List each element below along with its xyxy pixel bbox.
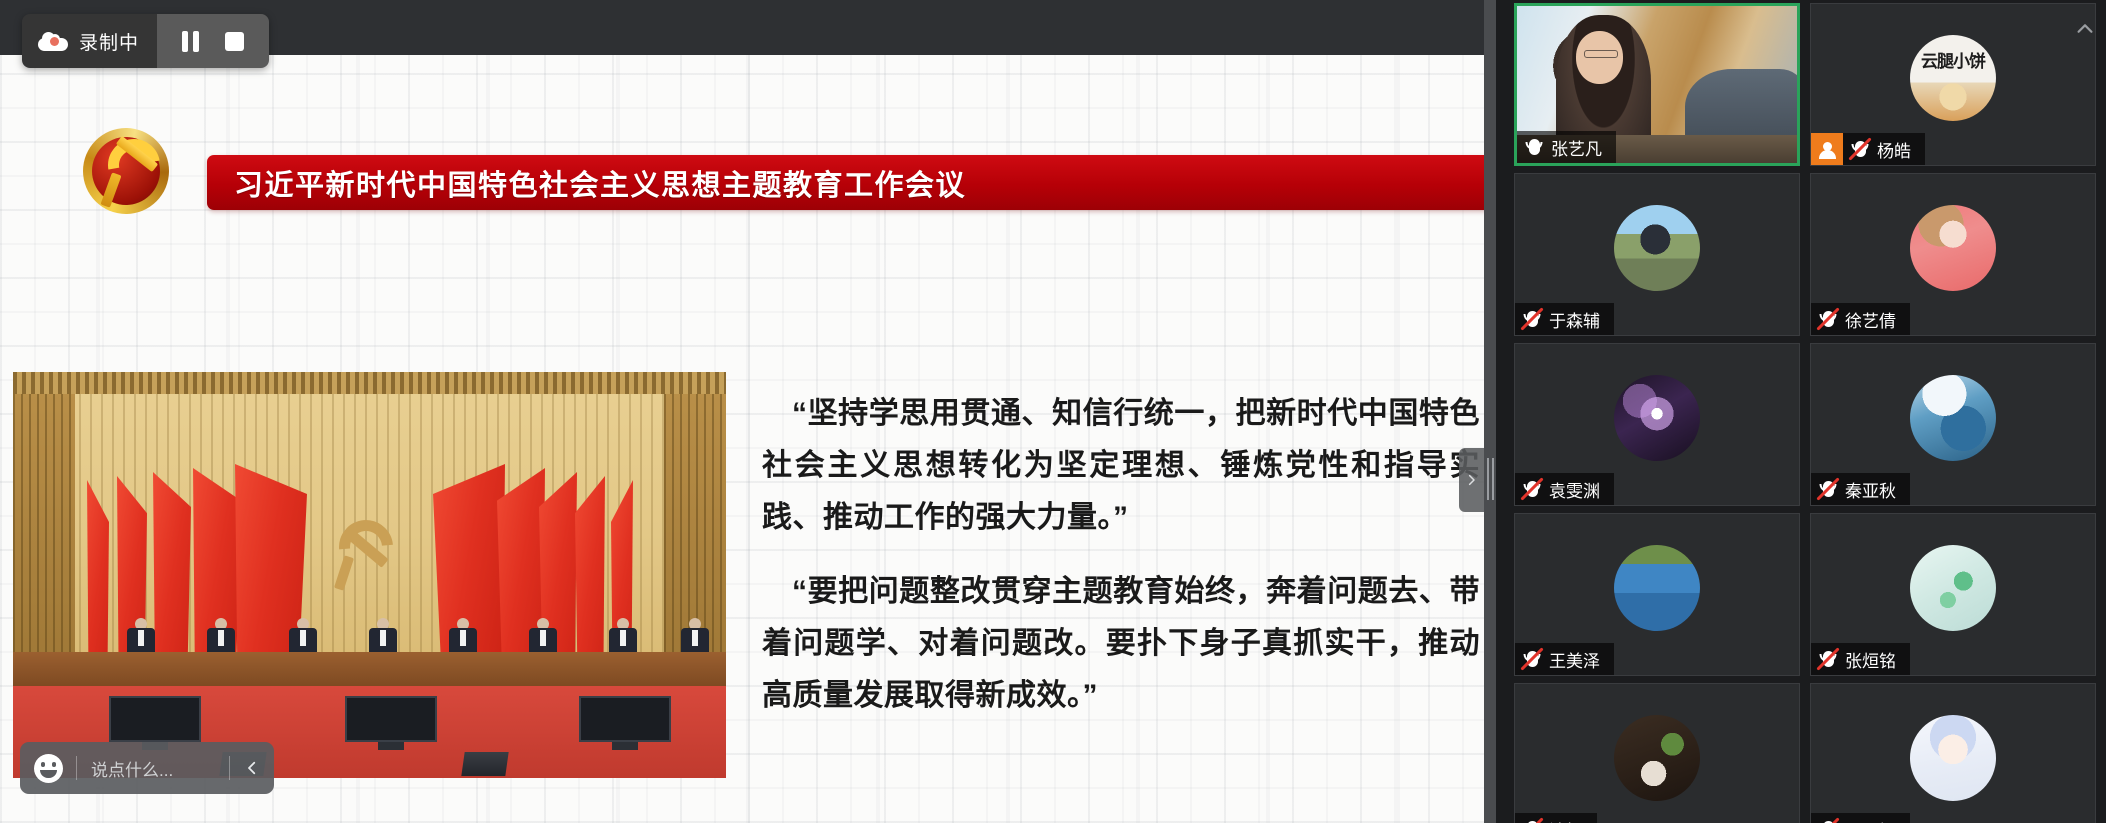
- slide-quote-2: “要把问题整改贯穿主题教育始终，奔着问题去、带着问题学、对着问题改。要扑下身子真…: [762, 566, 1480, 722]
- avatar: [1910, 545, 1996, 631]
- avatar: [1910, 35, 1996, 121]
- microphone-muted-icon: [1515, 651, 1549, 667]
- participant-tile[interactable]: 徐艺倩: [1810, 173, 2096, 336]
- slide-quote-block: “坚持学思用贯通、知信行统一，把新时代中国特色社会主义思想转化为坚定理想、锤炼党…: [762, 388, 1480, 722]
- panel-resize-handle[interactable]: [1484, 0, 1496, 823]
- participant-name: 秦亚秋: [1845, 477, 1896, 502]
- participant-nameplate: 于森辅: [1515, 303, 1614, 335]
- participant-nameplate: 袁雯渊: [1515, 473, 1614, 505]
- chat-input[interactable]: 说点什么...: [77, 756, 229, 781]
- microphone-muted-icon: [1811, 481, 1845, 497]
- chat-collapse-button[interactable]: [230, 759, 274, 777]
- participant-tile[interactable]: 张艺凡: [1514, 3, 1800, 166]
- recording-status: 录制中: [22, 14, 157, 68]
- presentation-slide: 习近平新时代中国特色社会主义思想主题教育工作会议: [0, 55, 1496, 823]
- participant-name: 于森辅: [1549, 307, 1600, 332]
- hall-party-emblem-icon: [333, 512, 407, 598]
- host-badge-icon: [1811, 133, 1843, 165]
- recording-label: 录制中: [79, 28, 139, 55]
- participant-name: 徐艺倩: [1845, 307, 1896, 332]
- participant-tile[interactable]: 袁雯渊: [1514, 343, 1800, 506]
- microphone-muted-icon: [1811, 651, 1845, 667]
- avatar: [1614, 375, 1700, 461]
- microphone-muted-icon: [1515, 481, 1549, 497]
- chevron-up-icon: [2074, 18, 2096, 40]
- avatar: [1910, 375, 1996, 461]
- participant-tile[interactable]: 法扬: [1514, 683, 1800, 823]
- conference-hall-photo: [13, 372, 726, 778]
- page-title: 习近平新时代中国特色社会主义思想主题教育工作会议: [207, 162, 966, 204]
- meeting-screen: 习近平新时代中国特色社会主义思想主题教育工作会议: [0, 0, 2106, 823]
- pause-icon[interactable]: [182, 31, 199, 52]
- microphone-muted-icon: [1515, 311, 1549, 327]
- emoji-smiley-icon[interactable]: [20, 754, 76, 783]
- participant-name: 袁雯渊: [1549, 477, 1600, 502]
- participant-nameplate: 张艺凡: [1517, 131, 1616, 163]
- participant-tile[interactable]: 王美泽: [1514, 513, 1800, 676]
- participant-tile[interactable]: 于森辅: [1514, 173, 1800, 336]
- participant-nameplate: 徐艺倩: [1811, 303, 1910, 335]
- slide-quote-1: “坚持学思用贯通、知信行统一，把新时代中国特色社会主义思想转化为坚定理想、锤炼党…: [762, 388, 1480, 544]
- microphone-muted-icon: [1843, 141, 1877, 157]
- expand-panel-button[interactable]: [1459, 448, 1484, 512]
- recording-controls[interactable]: [157, 14, 269, 68]
- participant-nameplate: 马子钰: [1811, 813, 1910, 823]
- microphone-icon: [1517, 139, 1551, 155]
- cloud-record-icon: [38, 31, 68, 51]
- participant-tile[interactable]: 杨皓: [1810, 3, 2096, 166]
- participant-nameplate: 秦亚秋: [1811, 473, 1910, 505]
- stop-icon[interactable]: [225, 32, 244, 51]
- participant-rail: 张艺凡杨皓于森辅徐艺倩袁雯渊秦亚秋王美泽张烜铭法扬马子钰: [1496, 0, 2106, 823]
- participant-name: 法扬: [1549, 817, 1583, 823]
- participant-name: 张烜铭: [1845, 647, 1896, 672]
- participant-name: 王美泽: [1549, 647, 1600, 672]
- avatar: [1614, 715, 1700, 801]
- avatar: [1614, 545, 1700, 631]
- chevron-left-icon: [243, 759, 261, 777]
- chevron-right-icon: [1464, 469, 1479, 491]
- participant-name: 马子钰: [1845, 817, 1896, 823]
- participant-nameplate: 张烜铭: [1811, 643, 1910, 675]
- avatar: [1910, 715, 1996, 801]
- participant-nameplate: 王美泽: [1515, 643, 1614, 675]
- participant-tile[interactable]: 秦亚秋: [1810, 343, 2096, 506]
- avatar: [1614, 205, 1700, 291]
- microphone-muted-icon: [1811, 311, 1845, 327]
- participant-tile[interactable]: 张烜铭: [1810, 513, 2096, 676]
- shared-screen-stage: 习近平新时代中国特色社会主义思想主题教育工作会议: [0, 0, 1496, 823]
- slide-title-banner: 习近平新时代中国特色社会主义思想主题教育工作会议: [207, 155, 1496, 210]
- recording-toolbar[interactable]: 录制中: [22, 14, 269, 68]
- participant-name: 杨皓: [1877, 137, 1911, 162]
- participant-tile[interactable]: 马子钰: [1810, 683, 2096, 823]
- participant-name: 张艺凡: [1551, 135, 1602, 160]
- chat-input-bar[interactable]: 说点什么...: [20, 742, 274, 794]
- party-emblem-icon: [78, 123, 194, 219]
- participant-nameplate: 杨皓: [1811, 133, 1925, 165]
- rail-scroll-up-button[interactable]: [2074, 18, 2096, 40]
- avatar: [1910, 205, 1996, 291]
- participant-nameplate: 法扬: [1515, 813, 1597, 823]
